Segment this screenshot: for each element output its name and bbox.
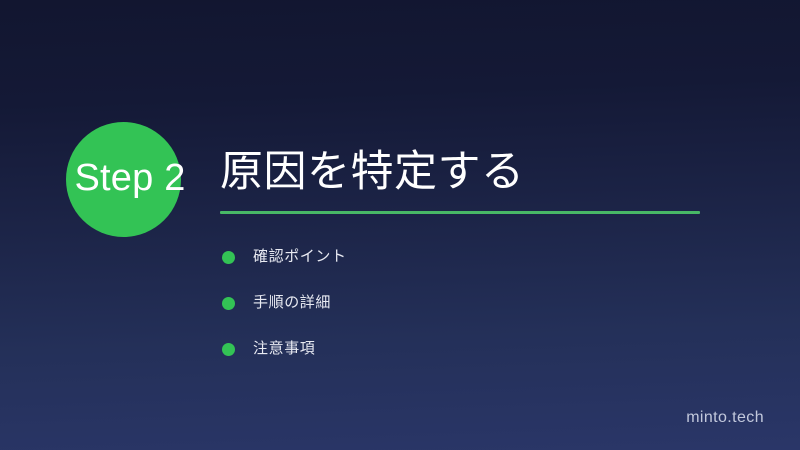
- list-item: 確認ポイント: [220, 234, 740, 280]
- bullet-dot-icon: [222, 343, 235, 356]
- footer-brand: minto.tech: [686, 408, 764, 428]
- slide-content: 原因を特定する 確認ポイント 手順の詳細 注意事項: [220, 0, 780, 450]
- bullet-item-label: 手順の詳細: [253, 293, 331, 313]
- list-item: 手順の詳細: [220, 280, 740, 326]
- bullet-list: 確認ポイント 手順の詳細 注意事項: [220, 234, 740, 372]
- list-item: 注意事項: [220, 326, 740, 372]
- bullet-item-label: 注意事項: [253, 339, 315, 359]
- title-divider: [220, 211, 700, 214]
- step-badge-label: Step 2: [40, 152, 220, 204]
- bullet-dot-icon: [222, 297, 235, 310]
- bullet-dot-icon: [222, 251, 235, 264]
- step-badge: Step 2: [40, 122, 220, 238]
- bullet-item-label: 確認ポイント: [253, 247, 347, 267]
- presentation-slide: Step 2 原因を特定する 確認ポイント 手順の詳細 注意事項 minto.t…: [0, 0, 800, 450]
- slide-title: 原因を特定する: [220, 145, 525, 199]
